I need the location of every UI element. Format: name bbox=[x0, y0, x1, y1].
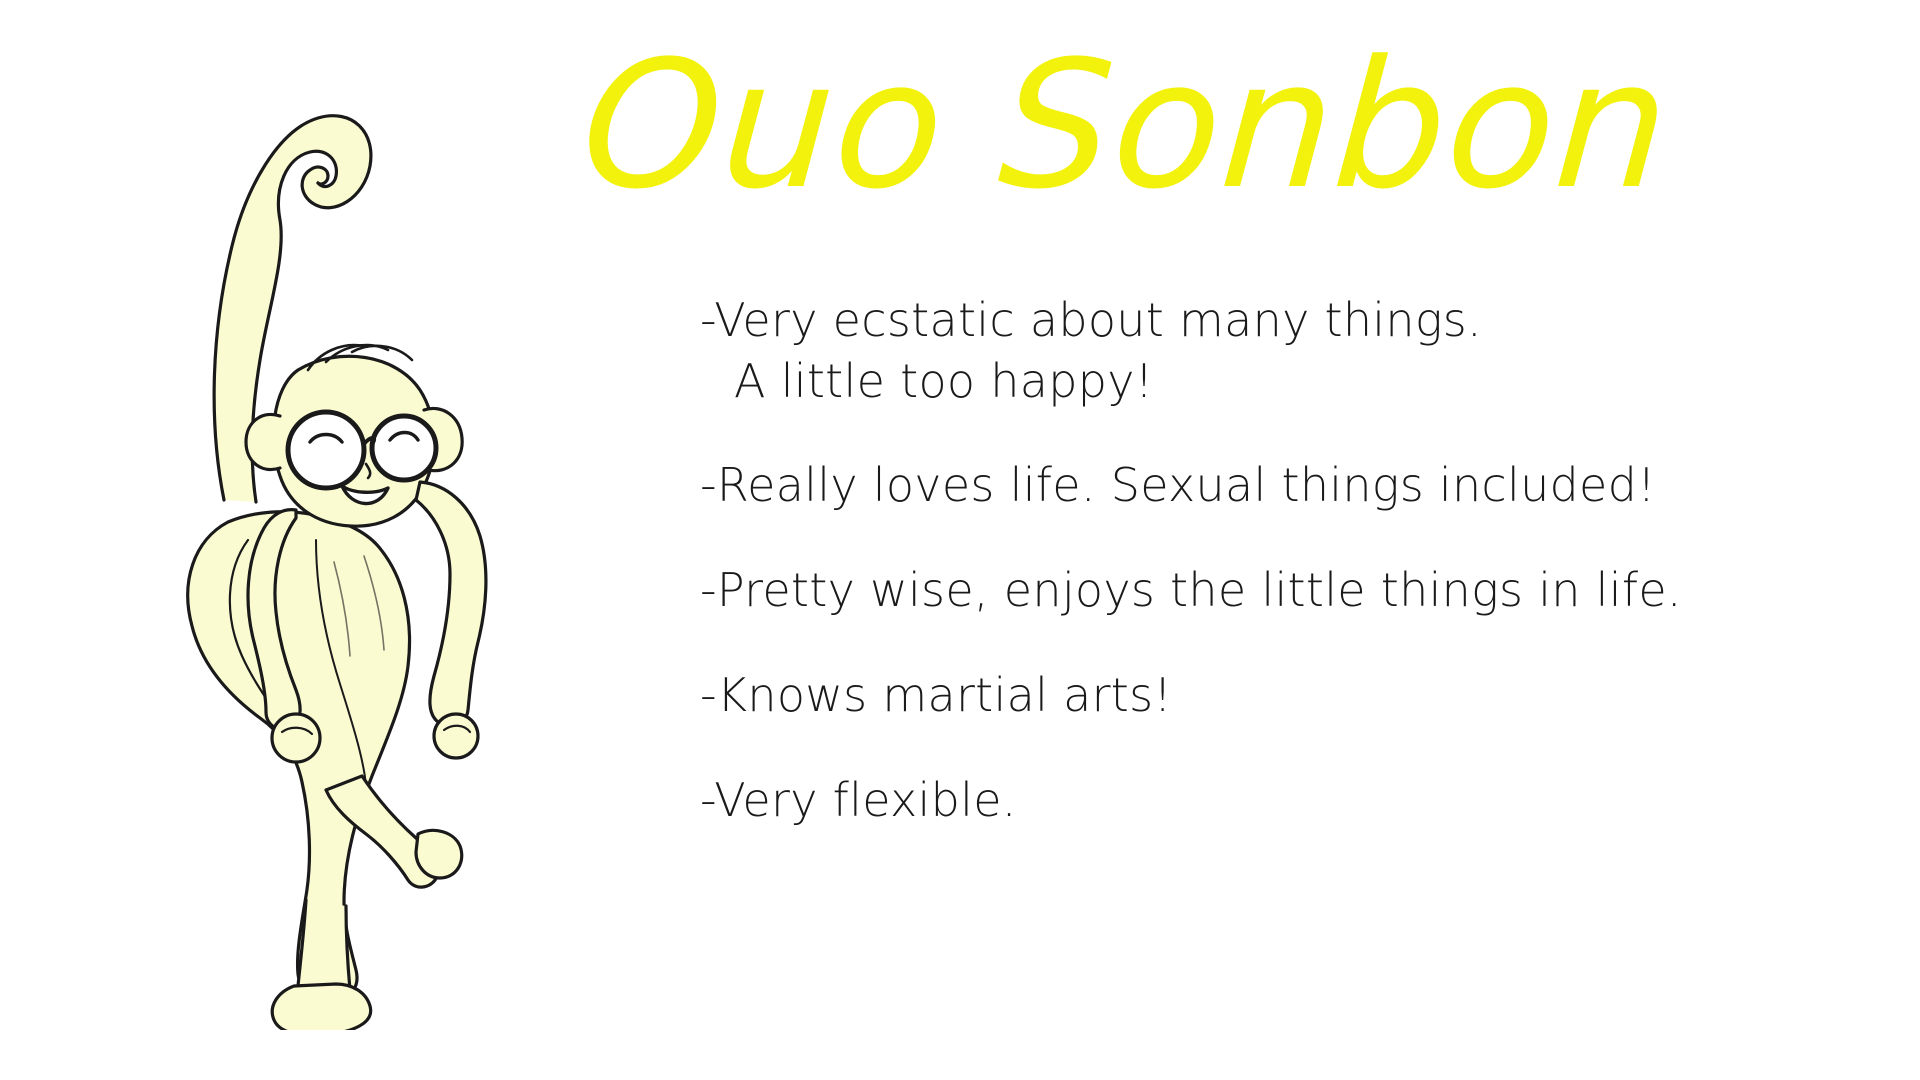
list-item: -Really loves life. Sexual things includ… bbox=[700, 455, 1850, 516]
glasses-lens-right bbox=[372, 416, 436, 480]
trait-line-primary: -Really loves life. Sexual things includ… bbox=[700, 458, 1656, 512]
list-item: -Pretty wise, enjoys the little things i… bbox=[700, 560, 1850, 621]
character-reference-sheet: Ouo Sonbon -Very ecstatic about many thi… bbox=[0, 0, 1920, 1080]
list-item: -Very ecstatic about many things. A litt… bbox=[700, 290, 1850, 411]
trait-line-primary: -Knows martial arts! bbox=[700, 668, 1172, 722]
foot-standing bbox=[272, 984, 370, 1030]
glasses-lens-left bbox=[288, 412, 364, 488]
list-item: -Knows martial arts! bbox=[700, 665, 1850, 726]
trait-line-primary: -Very flexible. bbox=[700, 773, 1017, 827]
monkey-character-svg bbox=[120, 70, 540, 1030]
character-traits-list: -Very ecstatic about many things. A litt… bbox=[700, 290, 1850, 830]
foot-raised bbox=[416, 830, 462, 878]
ear-left bbox=[246, 414, 280, 469]
trait-line-secondary: A little too happy! bbox=[700, 351, 1850, 412]
arm-right bbox=[416, 482, 486, 727]
page-title: Ouo Sonbon bbox=[576, 28, 1850, 228]
trait-line-primary: -Pretty wise, enjoys the little things i… bbox=[700, 563, 1682, 617]
monkey-character-illustration bbox=[120, 70, 540, 1030]
hand-right bbox=[434, 714, 478, 758]
hand-left bbox=[272, 714, 320, 762]
trait-line-primary: -Very ecstatic about many things. bbox=[700, 293, 1482, 347]
list-item: -Very flexible. bbox=[700, 770, 1850, 831]
